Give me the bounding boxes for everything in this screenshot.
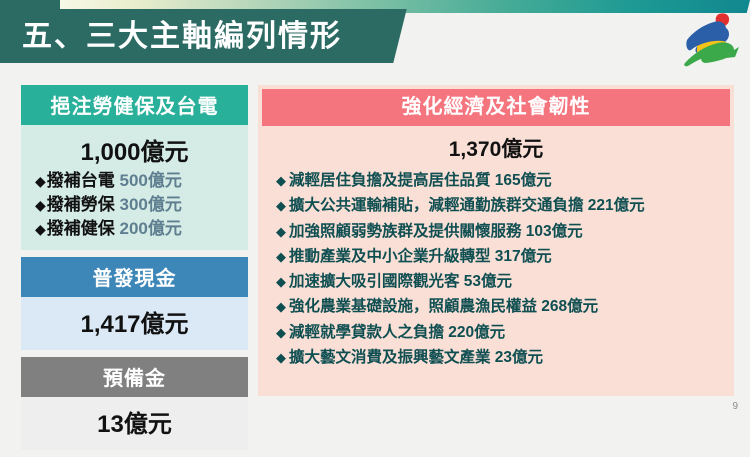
card-body: 1,417億元	[21, 297, 248, 350]
list-item: ◆減輕居住負擔及提高居住品質 165億元	[276, 168, 734, 193]
list-item: ◆加速擴大吸引國際觀光客 53億元	[276, 269, 734, 294]
list-item-value: 500億元	[120, 171, 182, 190]
list-item: ◆減輕就學貸款人之負擔 220億元	[276, 320, 734, 345]
card-body: 1,000億元 ◆撥補台電 500億元 ◆撥補勞保 300億元 ◆撥補健保 20…	[21, 125, 248, 250]
list-item-label: 撥補勞保	[47, 195, 115, 214]
list-item: ◆撥補勞保 300億元	[35, 193, 248, 217]
diamond-bullet-icon: ◆	[35, 221, 46, 237]
diamond-bullet-icon: ◆	[35, 173, 46, 189]
list-item-label: 撥補台電	[47, 171, 115, 190]
card-header-label: 普發現金	[21, 257, 248, 297]
list-item: ◆擴大公共運輸補貼，減輕通勤族群交通負擔 221億元	[276, 193, 734, 218]
diamond-bullet-icon: ◆	[276, 325, 286, 340]
card-header-label: 挹注勞健保及台電	[21, 85, 248, 125]
list-item: ◆強化農業基礎設施，照顧農漁民權益 268億元	[276, 294, 734, 319]
diamond-bullet-icon: ◆	[35, 197, 46, 213]
diamond-bullet-icon: ◆	[276, 274, 286, 289]
list-item-text: 加速擴大吸引國際觀光客 53億元	[289, 273, 512, 290]
card-header-label: 預備金	[21, 357, 248, 397]
panel-item-list: ◆減輕居住負擔及提高居住品質 165億元 ◆擴大公共運輸補貼，減輕通勤族群交通負…	[258, 168, 734, 370]
panel-economic-social-resilience: 強化經濟及社會韌性 1,370億元 ◆減輕居住負擔及提高居住品質 165億元 ◆…	[258, 85, 734, 396]
card-labor-health-taipower: 挹注勞健保及台電 1,000億元 ◆撥補台電 500億元 ◆撥補勞保 300億元…	[21, 85, 248, 250]
list-item-text: 減輕居住負擔及提高居住品質 165億元	[289, 172, 552, 189]
left-column: 挹注勞健保及台電 1,000億元 ◆撥補台電 500億元 ◆撥補勞保 300億元…	[21, 85, 248, 457]
list-item-text: 推動產業及中小企業升級轉型 317億元	[289, 248, 552, 265]
page-title: 五、三大主軸編列情形	[22, 14, 382, 60]
list-item: ◆擴大藝文消費及振興藝文產業 23億元	[276, 345, 734, 370]
list-item-label: 撥補健保	[47, 219, 115, 238]
diamond-bullet-icon: ◆	[276, 350, 286, 365]
diamond-bullet-icon: ◆	[276, 224, 286, 239]
list-item-text: 強化農業基礎設施，照顧農漁民權益 268億元	[289, 298, 598, 315]
list-item-value: 300億元	[120, 195, 182, 214]
list-item-text: 減輕就學貸款人之負擔 220億元	[289, 324, 505, 341]
diamond-bullet-icon: ◆	[276, 249, 286, 264]
card-sub-list: ◆撥補台電 500億元 ◆撥補勞保 300億元 ◆撥補健保 200億元	[21, 169, 248, 241]
list-item: ◆撥補健保 200億元	[35, 217, 248, 241]
card-amount: 13億元	[21, 403, 248, 441]
list-item-text: 擴大藝文消費及振興藝文產業 23億元	[289, 349, 543, 366]
card-universal-cash-payout: 普發現金 1,417億元	[21, 257, 248, 350]
list-item-value: 200億元	[120, 219, 182, 238]
list-item-text: 加強照顧弱勢族群及提供關懷服務 103億元	[289, 223, 583, 240]
panel-amount: 1,370億元	[258, 126, 734, 168]
page-number: 9	[732, 401, 738, 412]
diamond-bullet-icon: ◆	[276, 299, 286, 314]
slide-root: 五、三大主軸編列情形 挹注勞健保及台電 1,000億元 ◆撥補台電 500億元 …	[0, 0, 750, 423]
card-amount: 1,417億元	[21, 303, 248, 341]
card-body: 13億元	[21, 397, 248, 450]
diamond-bullet-icon: ◆	[276, 198, 286, 213]
list-item: ◆推動產業及中小企業升級轉型 317億元	[276, 244, 734, 269]
panel-header-label: 強化經濟及社會韌性	[262, 89, 730, 126]
list-item-text: 擴大公共運輸補貼，減輕通勤族群交通負擔 221億元	[289, 197, 645, 214]
list-item: ◆撥補台電 500億元	[35, 169, 248, 193]
card-reserve-fund: 預備金 13億元	[21, 357, 248, 450]
government-running-figure-logo	[679, 10, 741, 68]
list-item: ◆加強照顧弱勢族群及提供關懷服務 103億元	[276, 219, 734, 244]
diamond-bullet-icon: ◆	[276, 173, 286, 188]
card-amount: 1,000億元	[21, 131, 248, 169]
